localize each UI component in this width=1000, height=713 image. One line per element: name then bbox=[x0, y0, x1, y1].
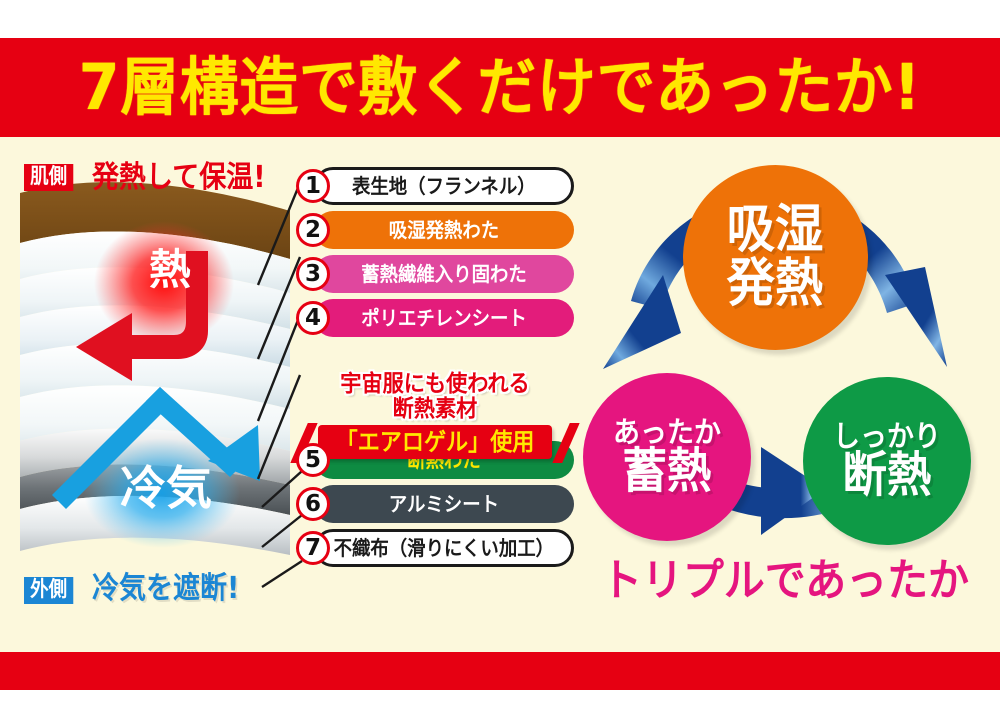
layer-row[interactable]: 蓄熱繊維入り固わた 3 bbox=[296, 255, 574, 293]
layer-number: 2 bbox=[296, 213, 330, 247]
page-title: 7層構造で敷くだけであったか! bbox=[79, 56, 922, 119]
layer-pill: アルミシート bbox=[314, 485, 574, 523]
layer-label: ポリエチレンシート bbox=[361, 308, 527, 328]
aerogel-callout: 宇宙服にも使われる 断熱素材 「エアロゲル」使用 bbox=[296, 373, 574, 465]
skin-side-badge: 肌側 bbox=[24, 164, 73, 191]
aerogel-line-1: 宇宙服にも使われる bbox=[307, 373, 563, 396]
layer-number: 3 bbox=[296, 257, 330, 291]
layer-label: 吸湿発熱わた bbox=[389, 220, 499, 240]
aerogel-line-3: 「エアロゲル」使用 bbox=[336, 430, 535, 454]
layer-pill: 吸湿発熱わた bbox=[314, 211, 574, 249]
cycle-node-heat-storage[interactable]: あったか 蓄熱 bbox=[583, 373, 751, 541]
cycle-node-insulation[interactable]: しっかり 断熱 bbox=[803, 377, 971, 545]
layer-list: 表生地（フランネル） 1 吸湿発熱わた 2 蓄熱繊維入り固わた 3 ポリエチレン… bbox=[296, 167, 574, 573]
layer-row[interactable]: 表生地（フランネル） 1 bbox=[296, 167, 574, 205]
layer-label: アルミシート bbox=[389, 494, 499, 514]
layer-pill: ポリエチレンシート bbox=[314, 299, 574, 337]
layer-number: 1 bbox=[296, 169, 330, 203]
cycle-node-line-2: 断熱 bbox=[842, 451, 931, 500]
outer-side-badge: 外側 bbox=[24, 577, 73, 604]
layer-pill: 不織布（滑りにくい加工） bbox=[314, 529, 574, 567]
cycle-node-line-1: 吸湿 bbox=[727, 204, 824, 257]
layer-number: 7 bbox=[296, 531, 330, 565]
layer-number: 5 bbox=[296, 443, 330, 477]
outer-side-caption: 冷気を遮断! bbox=[92, 574, 239, 604]
layer-pill: 表生地（フランネル） bbox=[314, 167, 574, 205]
layer-label: 不織布（滑りにくい加工） bbox=[334, 538, 554, 558]
infographic-root: 7層構造で敷くだけであったか! bbox=[0, 0, 1000, 713]
layer-row[interactable]: アルミシート 6 bbox=[296, 485, 574, 523]
layer-label: 表生地（フランネル） bbox=[352, 176, 536, 196]
aerogel-badge: 「エアロゲル」使用 bbox=[318, 425, 552, 459]
cycle-node-line-2: 発熱 bbox=[727, 258, 824, 311]
layer-pill: 蓄熱繊維入り固わた bbox=[314, 255, 574, 293]
triple-cycle-diagram: 吸湿 発熱 あったか 蓄熱 しっかり 断熱 トリプルであったか bbox=[575, 155, 995, 645]
layer-number: 6 bbox=[296, 487, 330, 521]
aerogel-line-2: 断熱素材 bbox=[307, 398, 563, 421]
content-stage: 熱 冷気 肌側 発熱して保温! 外側 冷気を遮断! 表生地（ bbox=[0, 137, 1000, 652]
cycle-node-line-2: 蓄熱 bbox=[622, 447, 711, 496]
header-banner: 7層構造で敷くだけであったか! bbox=[0, 38, 1000, 137]
cycle-caption: トリプルであったか bbox=[590, 559, 981, 603]
layer-label: 蓄熱繊維入り固わた bbox=[361, 264, 527, 284]
cycle-node-moisture-heat[interactable]: 吸湿 発熱 bbox=[683, 165, 868, 350]
layer-row[interactable]: 吸湿発熱わた 2 bbox=[296, 211, 574, 249]
layer-row[interactable]: 不織布（滑りにくい加工） 7 bbox=[296, 529, 574, 567]
layer-row[interactable]: ポリエチレンシート 4 bbox=[296, 299, 574, 337]
footer-banner bbox=[0, 652, 1000, 690]
layer-number: 4 bbox=[296, 301, 330, 335]
